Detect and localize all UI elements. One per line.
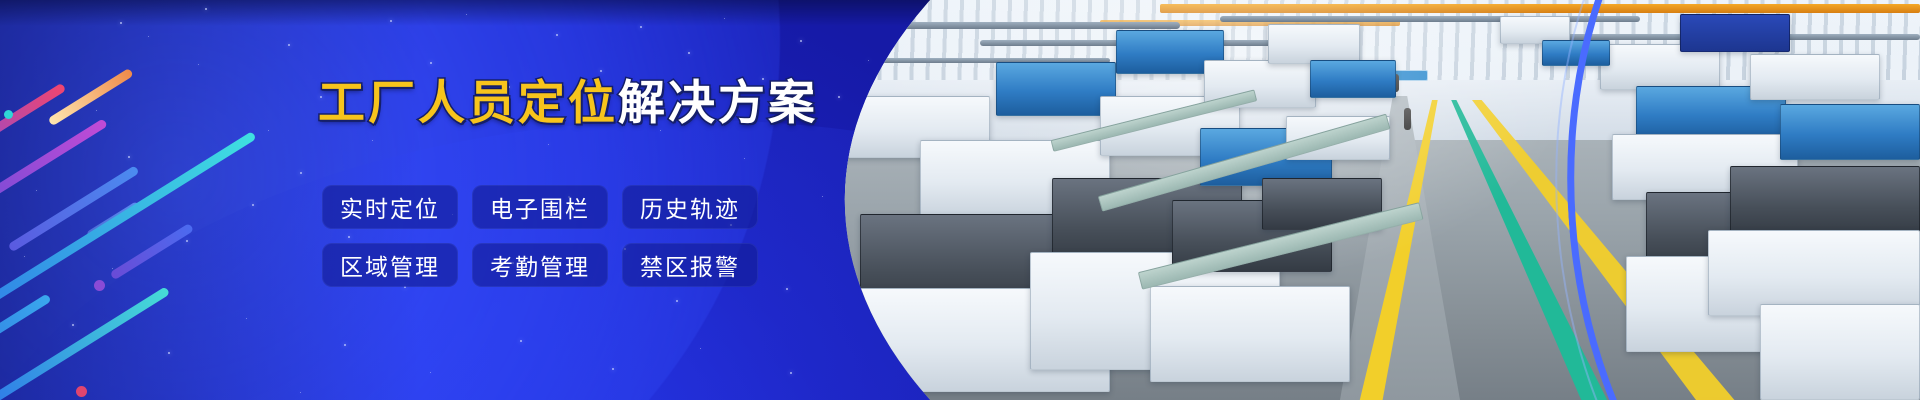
- tag-history-track[interactable]: 历史轨迹: [622, 185, 758, 229]
- tag-realtime-positioning[interactable]: 实时定位: [322, 185, 458, 229]
- tag-area-management[interactable]: 区域管理: [322, 243, 458, 287]
- tag-restricted-area-alarm[interactable]: 禁区报警: [622, 243, 758, 287]
- factory-machine: [1680, 14, 1790, 52]
- factory-pipe: [1220, 16, 1640, 22]
- factory-machine: [1730, 166, 1920, 236]
- factory-photo-panel: [800, 0, 1920, 400]
- title-plain: 解决方案: [618, 76, 818, 129]
- banner-content: 工厂人员定位解决方案 实时定位 电子围栏 历史轨迹 区域管理 考勤管理 禁区报警: [318, 0, 878, 400]
- factory-machine: [1150, 286, 1350, 382]
- feature-tag-list: 实时定位 电子围栏 历史轨迹 区域管理 考勤管理 禁区报警: [322, 185, 758, 287]
- factory-machine: [996, 62, 1116, 116]
- factory-photo-clip: [800, 0, 1920, 400]
- factory-machine: [1268, 24, 1360, 64]
- page-title: 工厂人员定位解决方案: [318, 78, 818, 127]
- factory-photo-image: [800, 0, 1920, 400]
- factory-machine: [1780, 104, 1920, 160]
- factory-machine: [1750, 54, 1880, 100]
- promo-banner: 工厂人员定位解决方案 实时定位 电子围栏 历史轨迹 区域管理 考勤管理 禁区报警: [0, 0, 1920, 400]
- feature-tag-row-2: 区域管理 考勤管理 禁区报警: [322, 243, 758, 287]
- factory-machine: [1542, 40, 1610, 66]
- title-highlight: 工厂人员定位: [318, 76, 618, 129]
- tag-attendance-management[interactable]: 考勤管理: [472, 243, 608, 287]
- feature-tag-row-1: 实时定位 电子围栏 历史轨迹: [322, 185, 758, 229]
- tag-electronic-fence[interactable]: 电子围栏: [472, 185, 608, 229]
- factory-machine: [1760, 304, 1920, 400]
- factory-machine: [1310, 60, 1396, 98]
